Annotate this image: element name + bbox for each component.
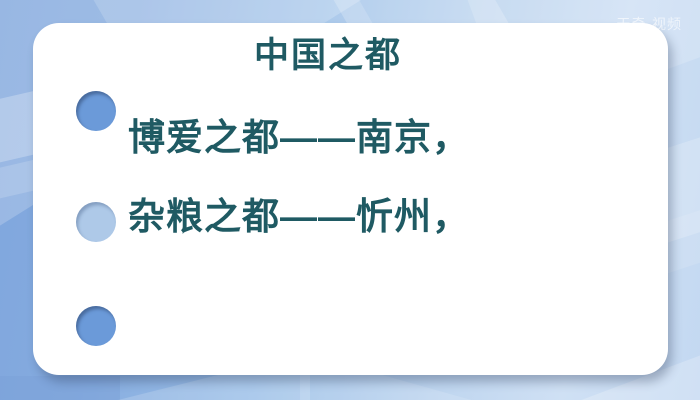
text-column: 中国之都 博爱之都——南京， 杂粮之都——忻州， — [128, 23, 668, 375]
hole-punch-2-icon — [76, 202, 116, 242]
page-title: 中国之都 — [128, 34, 528, 78]
hole-punch-3-icon — [76, 306, 116, 346]
hole-punch-1-icon — [76, 91, 116, 131]
content-card: 中国之都 博爱之都——南京， 杂粮之都——忻州， — [33, 23, 668, 375]
slide-canvas: 中国之都 博爱之都——南京， 杂粮之都——忻州， 天奇·视频 — [0, 0, 700, 400]
background-facet-wedge — [0, 376, 120, 400]
content-line-2: 杂粮之都——忻州， — [128, 195, 648, 239]
content-line-1: 博爱之都——南京， — [128, 116, 648, 160]
